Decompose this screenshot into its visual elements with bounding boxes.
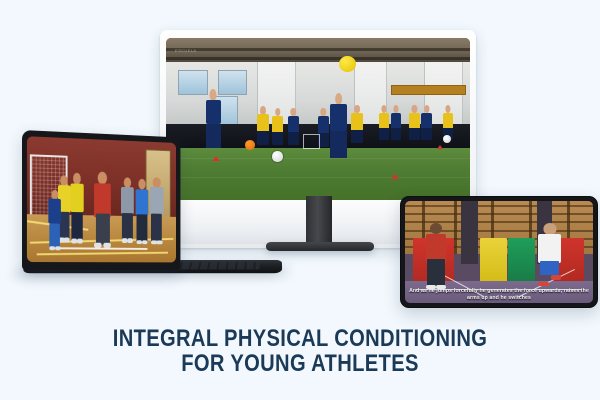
youth-figure (121, 177, 133, 240)
window (178, 70, 207, 95)
coach-figure (94, 171, 110, 245)
video-subtitle: And as he jumps forcefully he generates … (405, 288, 593, 301)
wall-bar-rung (405, 213, 593, 215)
tablet-screen[interactable]: And as he jumps forcefully he generates … (405, 201, 593, 303)
ball-in-air (339, 56, 356, 72)
wall-bar-post (454, 201, 457, 254)
laptop-screen[interactable] (27, 136, 176, 262)
mini-goal (303, 134, 320, 149)
instructor-figure (426, 223, 447, 286)
wall-bar-rung (405, 205, 593, 207)
ceiling-beam (166, 57, 470, 60)
title-line-2: FOR YOUNG ATHLETES (48, 351, 552, 376)
training-cone (391, 174, 399, 179)
ceiling-beam (166, 48, 470, 51)
laptop-photo (27, 136, 176, 262)
window (218, 70, 247, 95)
youth-figure (70, 173, 84, 241)
laptop-lid (22, 130, 180, 270)
player-figure (351, 113, 363, 144)
page-title: INTEGRAL PHYSICAL CONDITIONING FOR YOUNG… (48, 326, 552, 376)
player-figure (288, 116, 299, 145)
player-figure (421, 113, 431, 141)
player-figure (409, 113, 419, 141)
laptop (8, 130, 288, 290)
player-figure (391, 113, 401, 141)
wall-banner (391, 85, 466, 95)
coach-figure (330, 104, 347, 157)
title-line-1: INTEGRAL PHYSICAL CONDITIONING (113, 325, 487, 352)
training-ball (443, 135, 451, 143)
youth-figure (136, 179, 148, 242)
training-cone (437, 145, 443, 149)
dark-column (461, 201, 478, 264)
athlete-figure (538, 223, 561, 288)
tablet: And as he jumps forcefully he generates … (400, 196, 598, 308)
youth-figure (49, 190, 61, 249)
youth-figure (150, 177, 163, 242)
mat-yellow (480, 238, 506, 285)
mat-green (508, 238, 534, 285)
monitor-stand-neck (306, 196, 332, 246)
player-figure (379, 113, 389, 141)
promo-composite: ESCUELA (0, 0, 600, 400)
